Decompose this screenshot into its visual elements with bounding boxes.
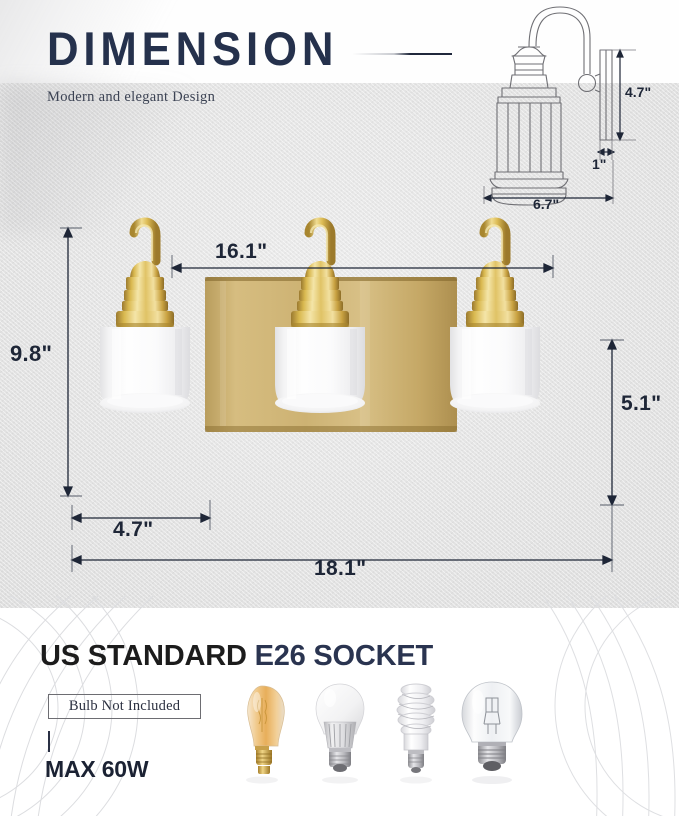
socket-heading: US STANDARD E26 SOCKET xyxy=(40,640,433,673)
title-rule-icon xyxy=(352,53,452,55)
dimension-label-shade-height: 5.1" xyxy=(621,392,661,416)
dimension-label-shade-diameter: 4.7" xyxy=(113,518,153,542)
halogen-bulb-icon xyxy=(462,682,522,784)
bulb-not-included-badge: Bulb Not Included xyxy=(48,694,201,719)
max-wattage-label: MAX 60W xyxy=(45,756,148,783)
dimension-lines-overlay xyxy=(0,200,679,600)
cfl-spiral-bulb-icon xyxy=(397,684,435,784)
page-subtitle: Modern and elegant Design xyxy=(47,89,215,106)
wallmount-dim-depth: 1" xyxy=(592,156,606,172)
compatible-bulbs-row xyxy=(240,676,580,796)
led-bulb-icon xyxy=(316,684,364,784)
infographic-page: DIMENSION Modern and elegant Design xyxy=(0,0,679,816)
socket-heading-part2: E26 SOCKET xyxy=(255,640,434,672)
socket-heading-part1: US STANDARD xyxy=(40,640,255,672)
dimension-label-overall-height: 9.8" xyxy=(10,341,52,367)
dimension-label-center-span: 16.1" xyxy=(215,240,267,264)
accent-tick-mark xyxy=(48,731,50,752)
dimension-label-overall-width: 18.1" xyxy=(314,557,366,581)
page-title: DIMENSION xyxy=(47,25,338,72)
wall-mount-diagram xyxy=(440,0,679,230)
bulb-not-included-label: Bulb Not Included xyxy=(49,695,200,718)
wallmount-dim-height: 4.7" xyxy=(625,84,651,100)
edison-filament-bulb-icon xyxy=(246,686,284,784)
